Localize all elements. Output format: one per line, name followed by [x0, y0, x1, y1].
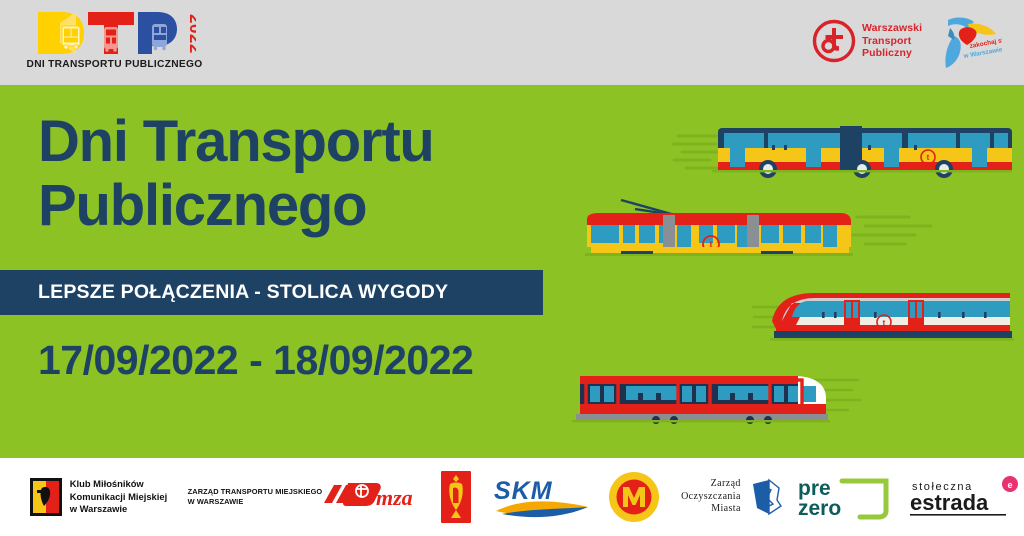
zakochaj-sie-w-warszawie-logo[interactable]: zakochaj się w Warszawie: [934, 14, 1002, 72]
sponsor-zarzad-oczyszczania-miasta[interactable]: Zarząd Oczyszczania Miasta: [674, 467, 794, 527]
dtp-event-logo[interactable]: 2022 DNI TRANSPORTU PUBLICZNEGO: [22, 9, 207, 77]
zom-map-icon: [747, 476, 787, 518]
regional-train-illustration: t: [752, 281, 1022, 349]
prezero-logo-icon: pre zero: [794, 473, 906, 521]
tramwaje-warszawskie-crest-icon: [440, 470, 472, 524]
stoleczna-estrada-logo-icon: stołeczna estrada e: [906, 474, 1024, 520]
prezero-line-2: zero: [798, 497, 841, 520]
skm-logo-icon: SKM: [490, 475, 594, 519]
event-date-range: 17/09/2022 - 18/09/2022: [38, 337, 473, 384]
sponsor-tramwaje-warszawskie[interactable]: [422, 467, 490, 527]
wtp-line-1: Warszawski: [862, 22, 922, 35]
wtp-line-2: Transport: [862, 35, 922, 48]
tram-illustration: t: [565, 193, 935, 266]
articulated-bus-illustration: t: [672, 112, 1017, 184]
wtp-logo-text: Warszawski Transport Publiczny: [862, 22, 922, 60]
kmkm-text: Klub Miłośników Komunikacji Miejskiej w …: [70, 478, 167, 515]
zom-line-3: Miasta: [681, 503, 741, 515]
sponsor-logo-row: Klub Miłośników Komunikacji Miejskiej w …: [0, 458, 1024, 536]
metro-m-logo-icon: [608, 471, 660, 523]
kmkm-line-3: w Warszawie: [70, 503, 167, 515]
dtp-letters-icon: 2022: [36, 9, 196, 57]
wtp-line-3: Publiczny: [862, 47, 922, 60]
zom-line-2: Oczyszczania: [681, 491, 741, 503]
ztm-text: ZARZĄD TRANSPORTU MIEJSKIEGO W WARSZAWIE: [188, 487, 323, 508]
poster-root: 2022 DNI TRANSPORTU PUBLICZNEGO Warszaws…: [0, 0, 1024, 536]
sponsor-metro-warszawskie[interactable]: [594, 467, 674, 527]
subtitle-banner: LEPSZE POŁĄCZENIA - STOLICA WYGODY: [0, 270, 543, 315]
estrada-line-2: estrada: [910, 490, 989, 515]
skm-wordmark: SKM: [494, 477, 553, 505]
wtp-logo[interactable]: Warszawski Transport Publiczny: [812, 19, 924, 67]
sponsor-stoleczna-estrada[interactable]: stołeczna estrada e: [906, 467, 1024, 527]
zom-line-1: Zarząd: [681, 478, 741, 490]
mza-logo-icon: mza: [322, 477, 422, 517]
kmkm-line-2: Komunikacji Miejskiej: [70, 491, 167, 503]
page-title: Dni Transportu Publicznego: [38, 110, 434, 238]
svg-text:e: e: [1007, 480, 1012, 490]
sponsor-mza[interactable]: mza: [322, 467, 422, 527]
ztm-line-2: W WARSZAWIE: [188, 497, 323, 507]
mza-wordmark: mza: [376, 485, 413, 510]
dtp-logo-caption: DNI TRANSPORTU PUBLICZNEGO: [22, 59, 207, 70]
metro-train-illustration: [562, 360, 862, 432]
sponsor-prezero[interactable]: pre zero: [794, 467, 906, 527]
header-band: 2022 DNI TRANSPORTU PUBLICZNEGO Warszaws…: [0, 0, 1024, 85]
main-panel: Dni Transportu Publicznego LEPSZE POŁĄCZ…: [0, 85, 1024, 458]
zom-text: Zarząd Oczyszczania Miasta: [681, 478, 741, 515]
kmkm-crest-icon: [29, 477, 63, 517]
svg-text:t: t: [927, 153, 930, 162]
kmkm-line-1: Klub Miłośników: [70, 478, 167, 490]
footer-band: Klub Miłośników Komunikacji Miejskiej w …: [0, 458, 1024, 536]
sponsor-klub-milosnikow[interactable]: Klub Miłośników Komunikacji Miejskiej w …: [24, 467, 172, 527]
svg-text:2022: 2022: [186, 14, 196, 54]
svg-text:w Warszawie: w Warszawie: [962, 46, 1002, 60]
wtp-mark-icon: [812, 19, 856, 63]
ztm-line-1: ZARZĄD TRANSPORTU MIEJSKIEGO: [188, 487, 323, 497]
subtitle-text: LEPSZE POŁĄCZENIA - STOLICA WYGODY: [38, 281, 448, 304]
sponsor-ztm-warszawa[interactable]: ZARZĄD TRANSPORTU MIEJSKIEGO W WARSZAWIE: [172, 467, 322, 527]
sponsor-skm[interactable]: SKM: [490, 467, 594, 527]
svg-text:t: t: [883, 318, 886, 327]
